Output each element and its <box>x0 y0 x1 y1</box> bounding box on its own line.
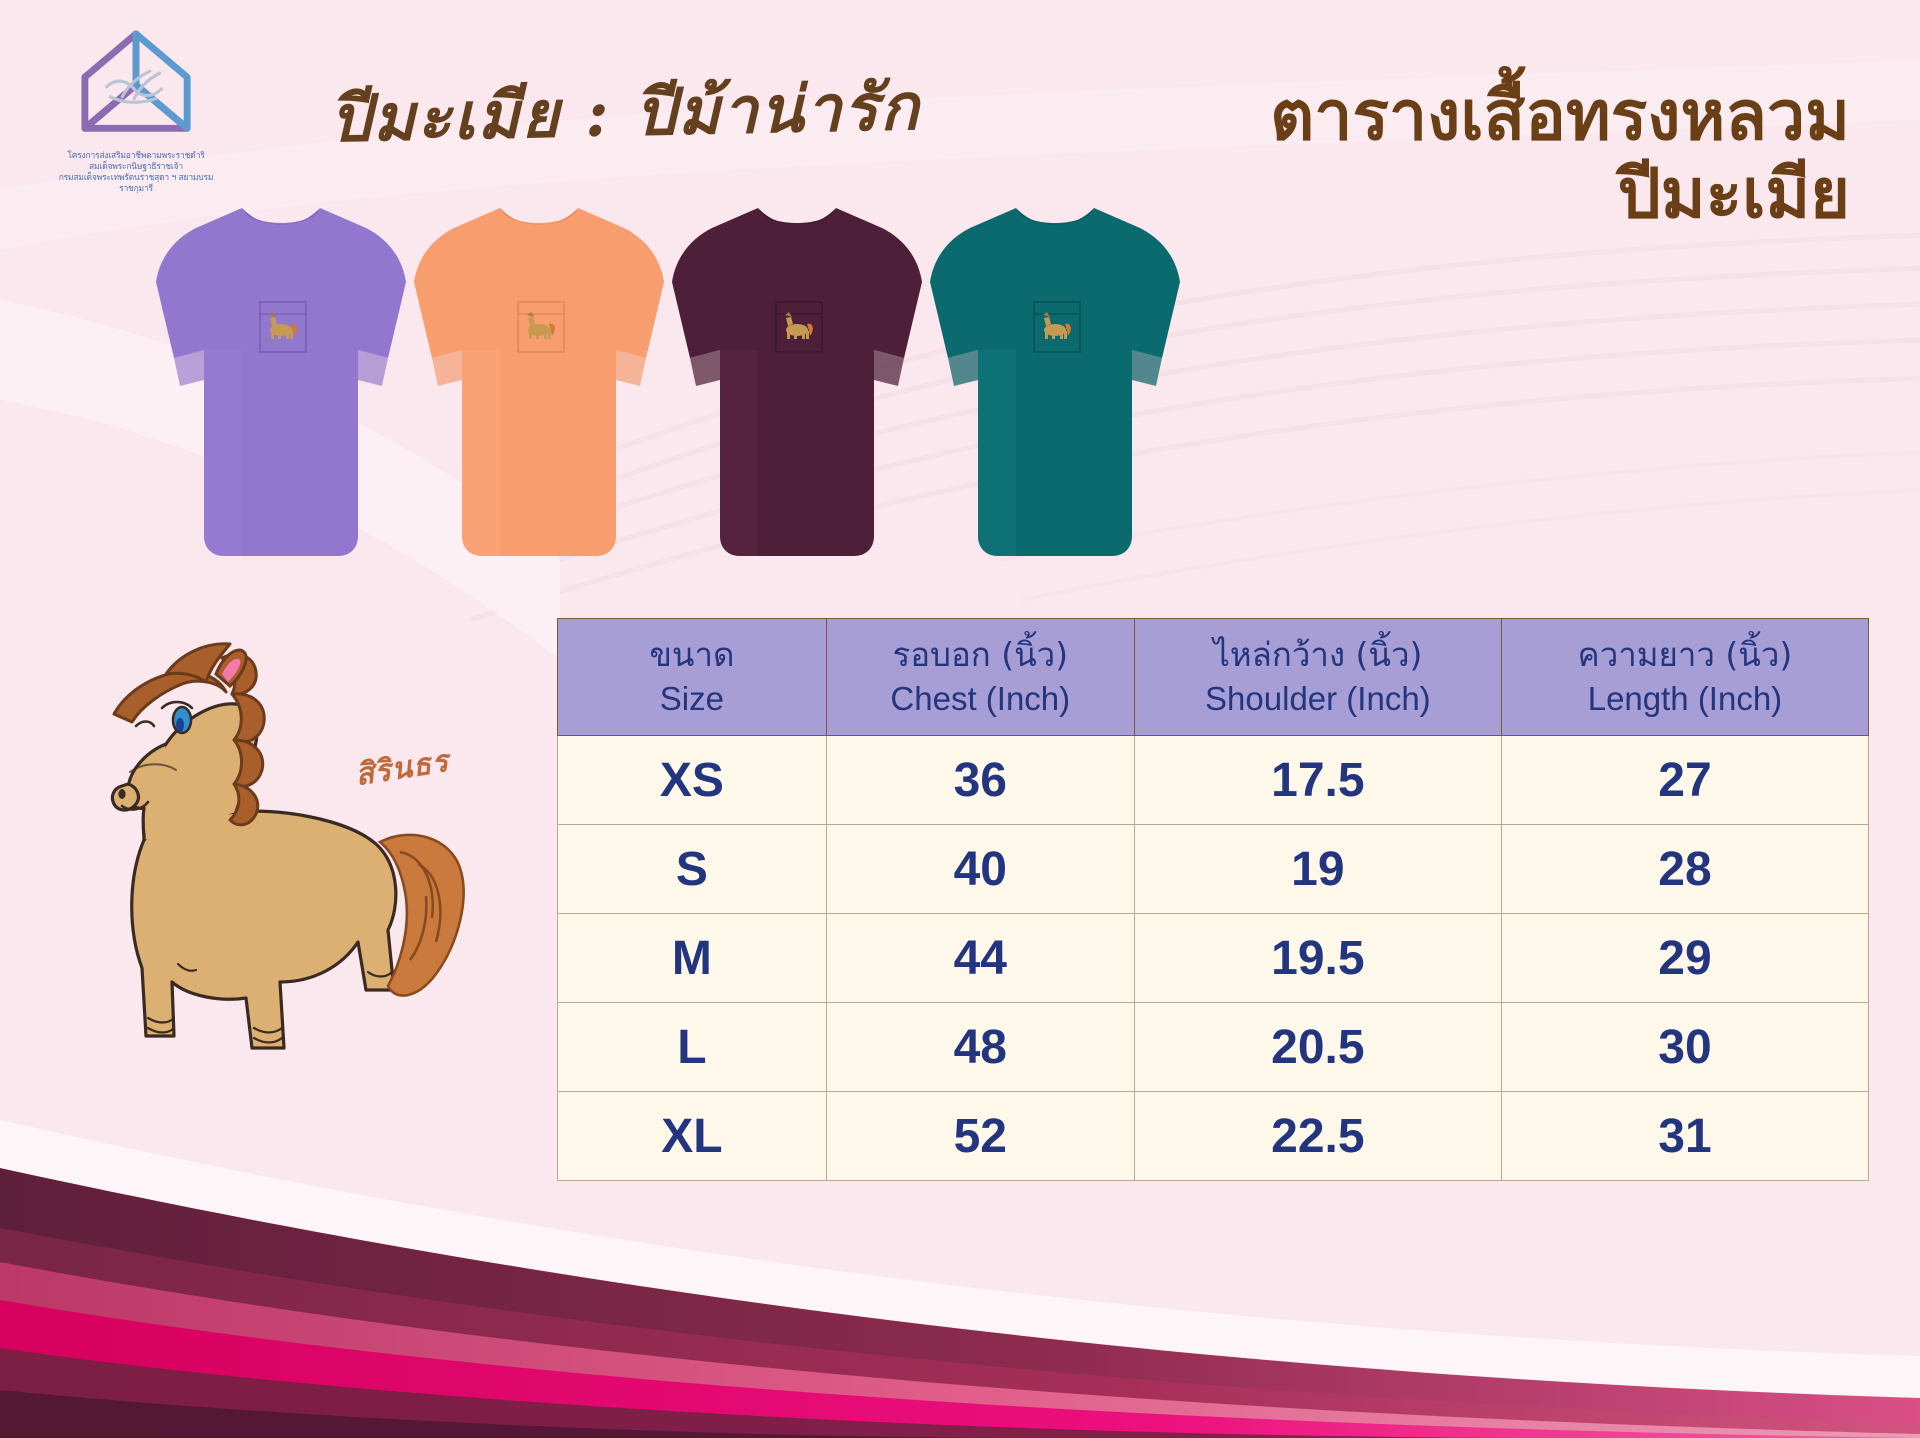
table-header-size: ขนาด Size <box>558 619 827 736</box>
cell-shoulder: 22.5 <box>1134 1092 1501 1181</box>
header-size-en: Size <box>562 677 822 721</box>
table-header-shoulder: ไหล่กว้าง (นิ้ว) Shoulder (Inch) <box>1134 619 1501 736</box>
cell-shoulder: 17.5 <box>1134 736 1501 825</box>
header-length-th: ความยาว (นิ้ว) <box>1578 635 1793 674</box>
organization-logo: โครงการส่งเสริมอาชีพตามพระราชดำริ สมเด็จ… <box>52 26 220 195</box>
table-row: XS 36 17.5 27 <box>558 736 1869 825</box>
page-title-line-1: ตารางเสื้อทรงหลวม <box>1270 77 1850 156</box>
size-table-container: ขนาด Size รอบอก (นิ้ว) Chest (Inch) ไหล่… <box>557 618 1869 1181</box>
cell-shoulder: 19 <box>1134 825 1501 914</box>
table-row: M 44 19.5 29 <box>558 914 1869 1003</box>
cell-length: 30 <box>1501 1003 1868 1092</box>
cell-shoulder: 20.5 <box>1134 1003 1501 1092</box>
table-row: L 48 20.5 30 <box>558 1003 1869 1092</box>
logo-caption-line-1: โครงการส่งเสริมอาชีพตามพระราชดำริ <box>52 151 220 162</box>
shirt-maroon <box>666 190 928 570</box>
cell-chest: 40 <box>826 825 1134 914</box>
logo-caption: โครงการส่งเสริมอาชีพตามพระราชดำริ สมเด็จ… <box>52 151 220 195</box>
cell-length: 31 <box>1501 1092 1868 1181</box>
header-chest-en: Chest (Inch) <box>831 677 1130 721</box>
shirt-gallery <box>150 190 1250 590</box>
cell-size: S <box>558 825 827 914</box>
cell-size: L <box>558 1003 827 1092</box>
shirt-purple <box>150 190 412 570</box>
table-header-row: ขนาด Size รอบอก (นิ้ว) Chest (Inch) ไหล่… <box>558 619 1869 736</box>
header-length-en: Length (Inch) <box>1506 677 1864 721</box>
logo-caption-line-2: สมเด็จพระกนิษฐาธิราชเจ้า <box>52 162 220 173</box>
table-row: XL 52 22.5 31 <box>558 1092 1869 1181</box>
size-table: ขนาด Size รอบอก (นิ้ว) Chest (Inch) ไหล่… <box>557 618 1869 1181</box>
header-shoulder-th: ไหล่กว้าง (นิ้ว) <box>1213 635 1422 674</box>
header-shoulder-en: Shoulder (Inch) <box>1139 677 1497 721</box>
header-chest-th: รอบอก (นิ้ว) <box>892 635 1068 674</box>
cell-size: XS <box>558 736 827 825</box>
horse-illustration <box>70 630 490 1100</box>
cell-shoulder: 19.5 <box>1134 914 1501 1003</box>
table-header-chest: รอบอก (นิ้ว) Chest (Inch) <box>826 619 1134 736</box>
cell-chest: 44 <box>826 914 1134 1003</box>
table-header-length: ความยาว (นิ้ว) Length (Inch) <box>1501 619 1868 736</box>
cell-length: 27 <box>1501 736 1868 825</box>
envelope-lotus-logo-icon <box>77 26 195 144</box>
shirt-orange <box>408 190 670 570</box>
cell-length: 29 <box>1501 914 1868 1003</box>
cell-size: M <box>558 914 827 1003</box>
cell-chest: 48 <box>826 1003 1134 1092</box>
table-row: S 40 19 28 <box>558 825 1869 914</box>
cell-size: XL <box>558 1092 827 1181</box>
cell-length: 28 <box>1501 825 1868 914</box>
header-size-th: ขนาด <box>649 635 734 674</box>
size-chart-poster: โครงการส่งเสริมอาชีพตามพระราชดำริ สมเด็จ… <box>0 0 1920 1438</box>
cell-chest: 36 <box>826 736 1134 825</box>
script-headline: ปีมะเมีย : ปีม้าน่ารัก <box>329 56 922 170</box>
cell-chest: 52 <box>826 1092 1134 1181</box>
shirt-teal <box>924 190 1186 570</box>
